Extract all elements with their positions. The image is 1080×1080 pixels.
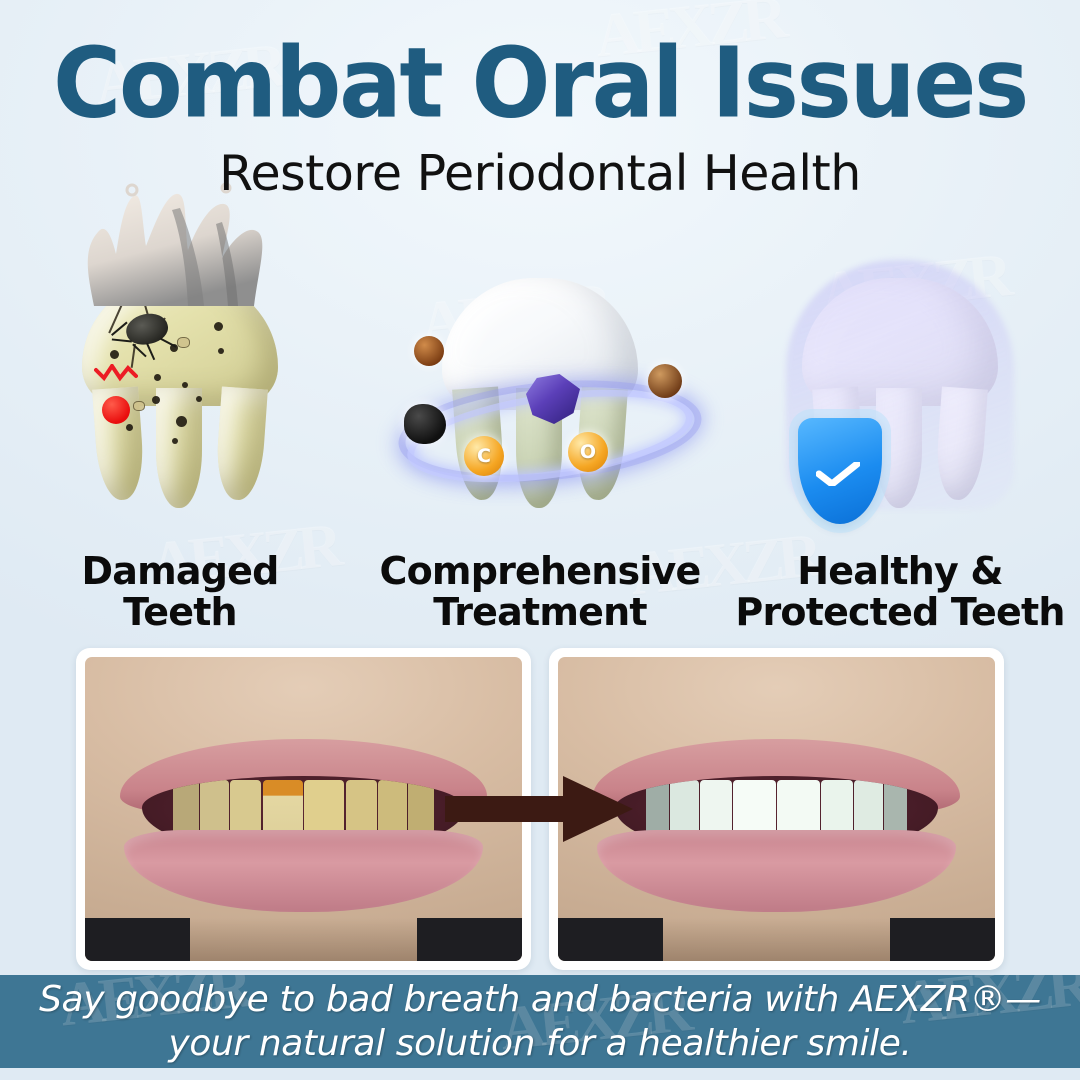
decay-spot [172,438,178,444]
photo-corner-shadow [417,918,522,961]
treatment-tooth-shape: C O [442,278,638,496]
before-after-comparison [76,648,1004,970]
decay-spot [218,348,224,354]
decay-spot [214,322,223,331]
tooth-root [156,388,202,508]
chip-flake [178,338,189,347]
herbal-seed-icon [648,364,682,398]
poster-root: AEXZR AEXZR AEXZR AEXZR AEXZR AEXZR Comb… [0,0,1080,1080]
decay-spot [126,424,133,431]
page-title: Combat Oral Issues [0,0,1080,132]
photo-corner-shadow [558,918,663,961]
decay-spot [176,416,187,427]
pain-dot-icon [102,396,130,424]
tooth-root [214,387,268,502]
benefit-panels: Damaged Teeth C O [0,232,1080,632]
poster-header: Combat Oral Issues Restore Periodontal H… [0,0,1080,202]
decay-spot [110,350,119,359]
footer-line-1: Say goodbye to bad breath and bacteria w… [39,979,1041,1020]
footer-line-2: your natural solution for a healthier sm… [168,1023,911,1064]
vitamin-c-capsule-icon: C [464,436,504,476]
decay-spot [196,396,202,402]
photo-corner-shadow [890,918,995,961]
vitamin-o-capsule-icon: O [568,432,608,472]
footer-banner: AEXZR AEXZR AEXZR Say goodbye to bad bre… [0,975,1080,1068]
decay-spot [182,382,188,388]
panel-comprehensive-treatment: C O Comprehensive Treatment [360,232,720,632]
herbal-seed-icon [414,336,444,366]
chip-flake [134,402,144,410]
decay-spot [154,374,161,381]
damaged-tooth-art [30,232,330,545]
decay-spot [152,396,160,404]
transformation-arrow-icon [445,770,635,848]
photo-corner-shadow [85,918,190,961]
panel-label-treatment: Comprehensive Treatment [380,551,701,632]
panel-label-damaged: Damaged Teeth [82,551,279,632]
pain-indicator-icon [94,364,138,390]
treatment-tooth-art: C O [390,232,690,545]
panel-label-healthy: Healthy & Protected Teeth [735,551,1064,632]
check-icon [816,462,860,486]
panel-healthy-teeth: Healthy & Protected Teeth [720,232,1080,632]
healthy-tooth-shape [802,278,998,496]
damaged-tooth-shape [82,278,278,496]
page-subtitle: Restore Periodontal Health [0,129,1080,202]
charcoal-granule-icon [404,404,446,444]
panel-damaged-teeth: Damaged Teeth [0,232,360,632]
healthy-tooth-art [750,232,1050,545]
footer-tagline: Say goodbye to bad breath and bacteria w… [15,978,1065,1066]
